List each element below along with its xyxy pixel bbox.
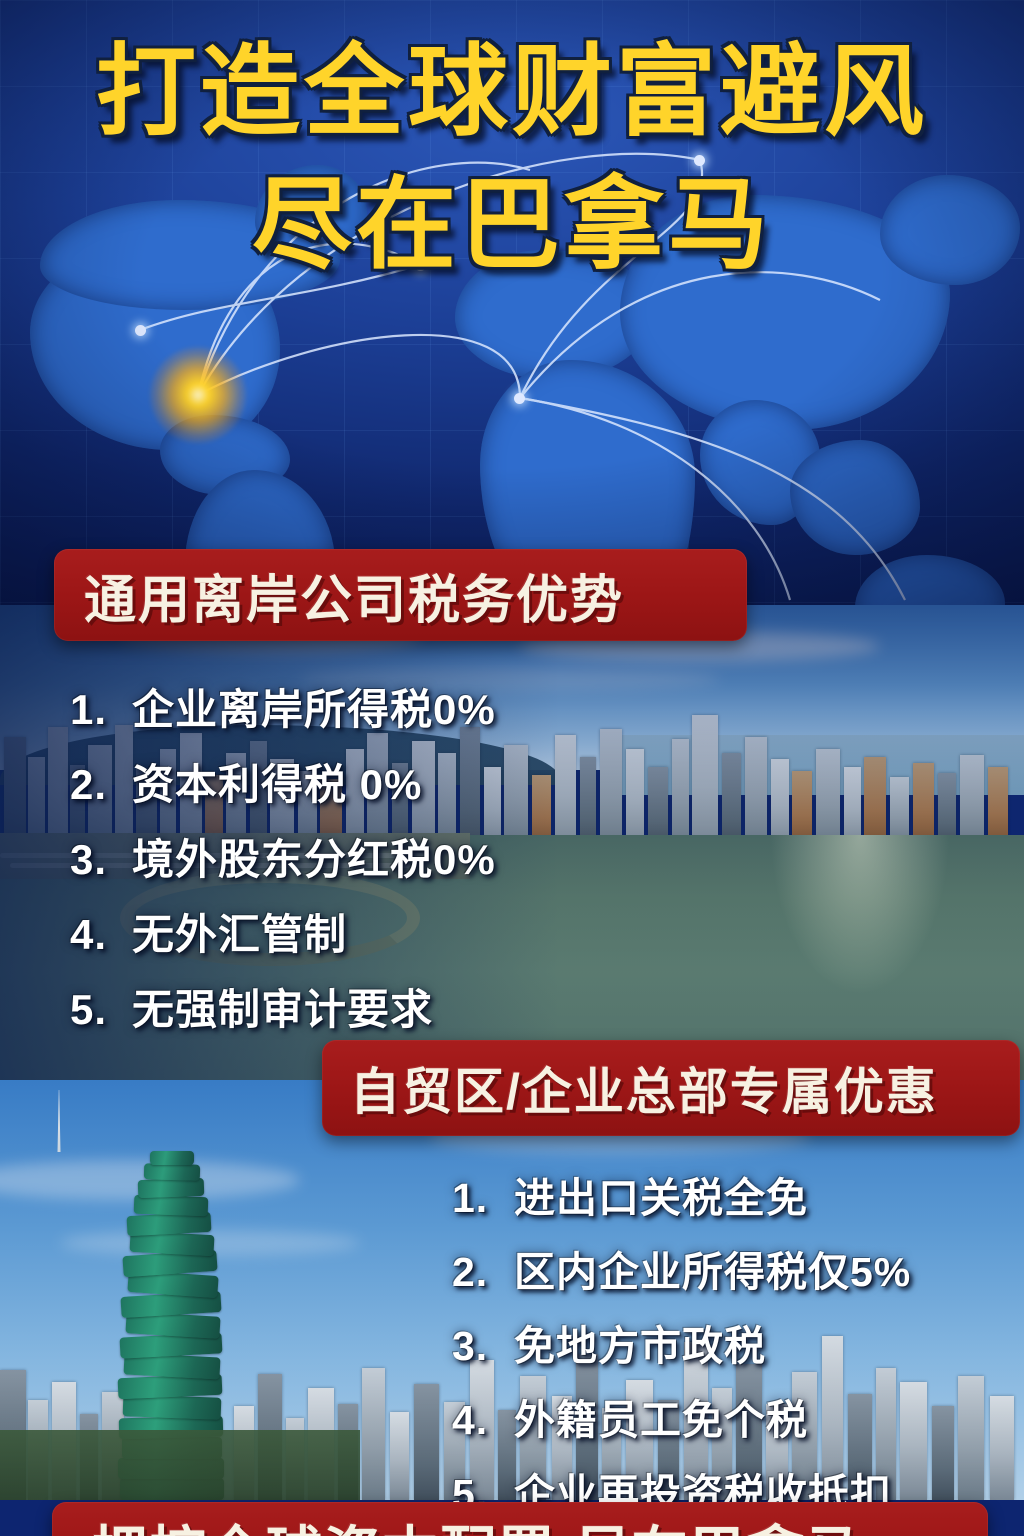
section1-banner: 通用离岸公司税务优势 [54, 549, 747, 641]
list-item-text: 区内企业所得税仅5% [514, 1238, 911, 1298]
list-item-text: 境外股东分红税0% [132, 826, 496, 887]
list-item: 2. 区内企业所得税仅5% [452, 1238, 911, 1298]
list-item: 3. 免地方市政税 [452, 1312, 911, 1372]
list-item-number: 1. [70, 686, 132, 734]
list-item-number: 3. [452, 1323, 514, 1370]
section2-banner: 自贸区/企业总部专属优惠 [322, 1040, 1020, 1136]
list-item-text: 免地方市政税 [514, 1312, 766, 1372]
list-item-text: 进出口关税全免 [514, 1164, 808, 1224]
list-item: 5. 无强制审计要求 [70, 976, 496, 1037]
section3-banner-label: 把控全球资本配置 尽在巴拿马 [92, 1508, 864, 1536]
list-item: 4. 外籍员工免个税 [452, 1386, 911, 1446]
list-item-number: 4. [452, 1397, 514, 1444]
hero-world-map-section: 打造全球财富避风 尽在巴拿马 [0, 0, 1024, 608]
list-item-text: 无外汇管制 [132, 901, 347, 962]
list-item: 1. 进出口关税全免 [452, 1164, 911, 1224]
list-item-text: 企业离岸所得税0% [132, 676, 496, 737]
list-item-number: 5. [70, 986, 132, 1034]
list-item-text: 资本利得税 0% [132, 751, 422, 812]
section1-benefits-list: 1. 企业离岸所得税0% 2. 资本利得税 0% 3. 境外股东分红税0% 4.… [70, 676, 496, 1051]
list-item-text: 外籍员工免个税 [514, 1386, 808, 1446]
poster-title-line1: 打造全球财富避风 [0, 10, 1024, 155]
list-item: 1. 企业离岸所得税0% [70, 676, 496, 737]
section3-banner: 把控全球资本配置 尽在巴拿马 [52, 1502, 988, 1536]
list-item-number: 2. [70, 761, 132, 809]
list-item-number: 1. [452, 1175, 514, 1222]
section1-banner-label: 通用离岸公司税务优势 [84, 558, 624, 633]
list-item: 3. 境外股东分红税0% [70, 826, 496, 887]
list-item: 2. 资本利得税 0% [70, 751, 496, 812]
list-item-number: 2. [452, 1249, 514, 1296]
list-item-text: 无强制审计要求 [132, 976, 433, 1037]
section2-benefits-list: 1. 进出口关税全免 2. 区内企业所得税仅5% 3. 免地方市政税 4. 外籍… [452, 1164, 911, 1534]
list-item: 4. 无外汇管制 [70, 901, 496, 962]
poster-root: 打造全球财富避风 尽在巴拿马 [0, 0, 1024, 1536]
list-item-number: 3. [70, 836, 132, 884]
section2-banner-label: 自贸区/企业总部专属优惠 [350, 1052, 938, 1124]
list-item-number: 4. [70, 911, 132, 959]
poster-title-line2: 尽在巴拿马 [0, 143, 1024, 288]
